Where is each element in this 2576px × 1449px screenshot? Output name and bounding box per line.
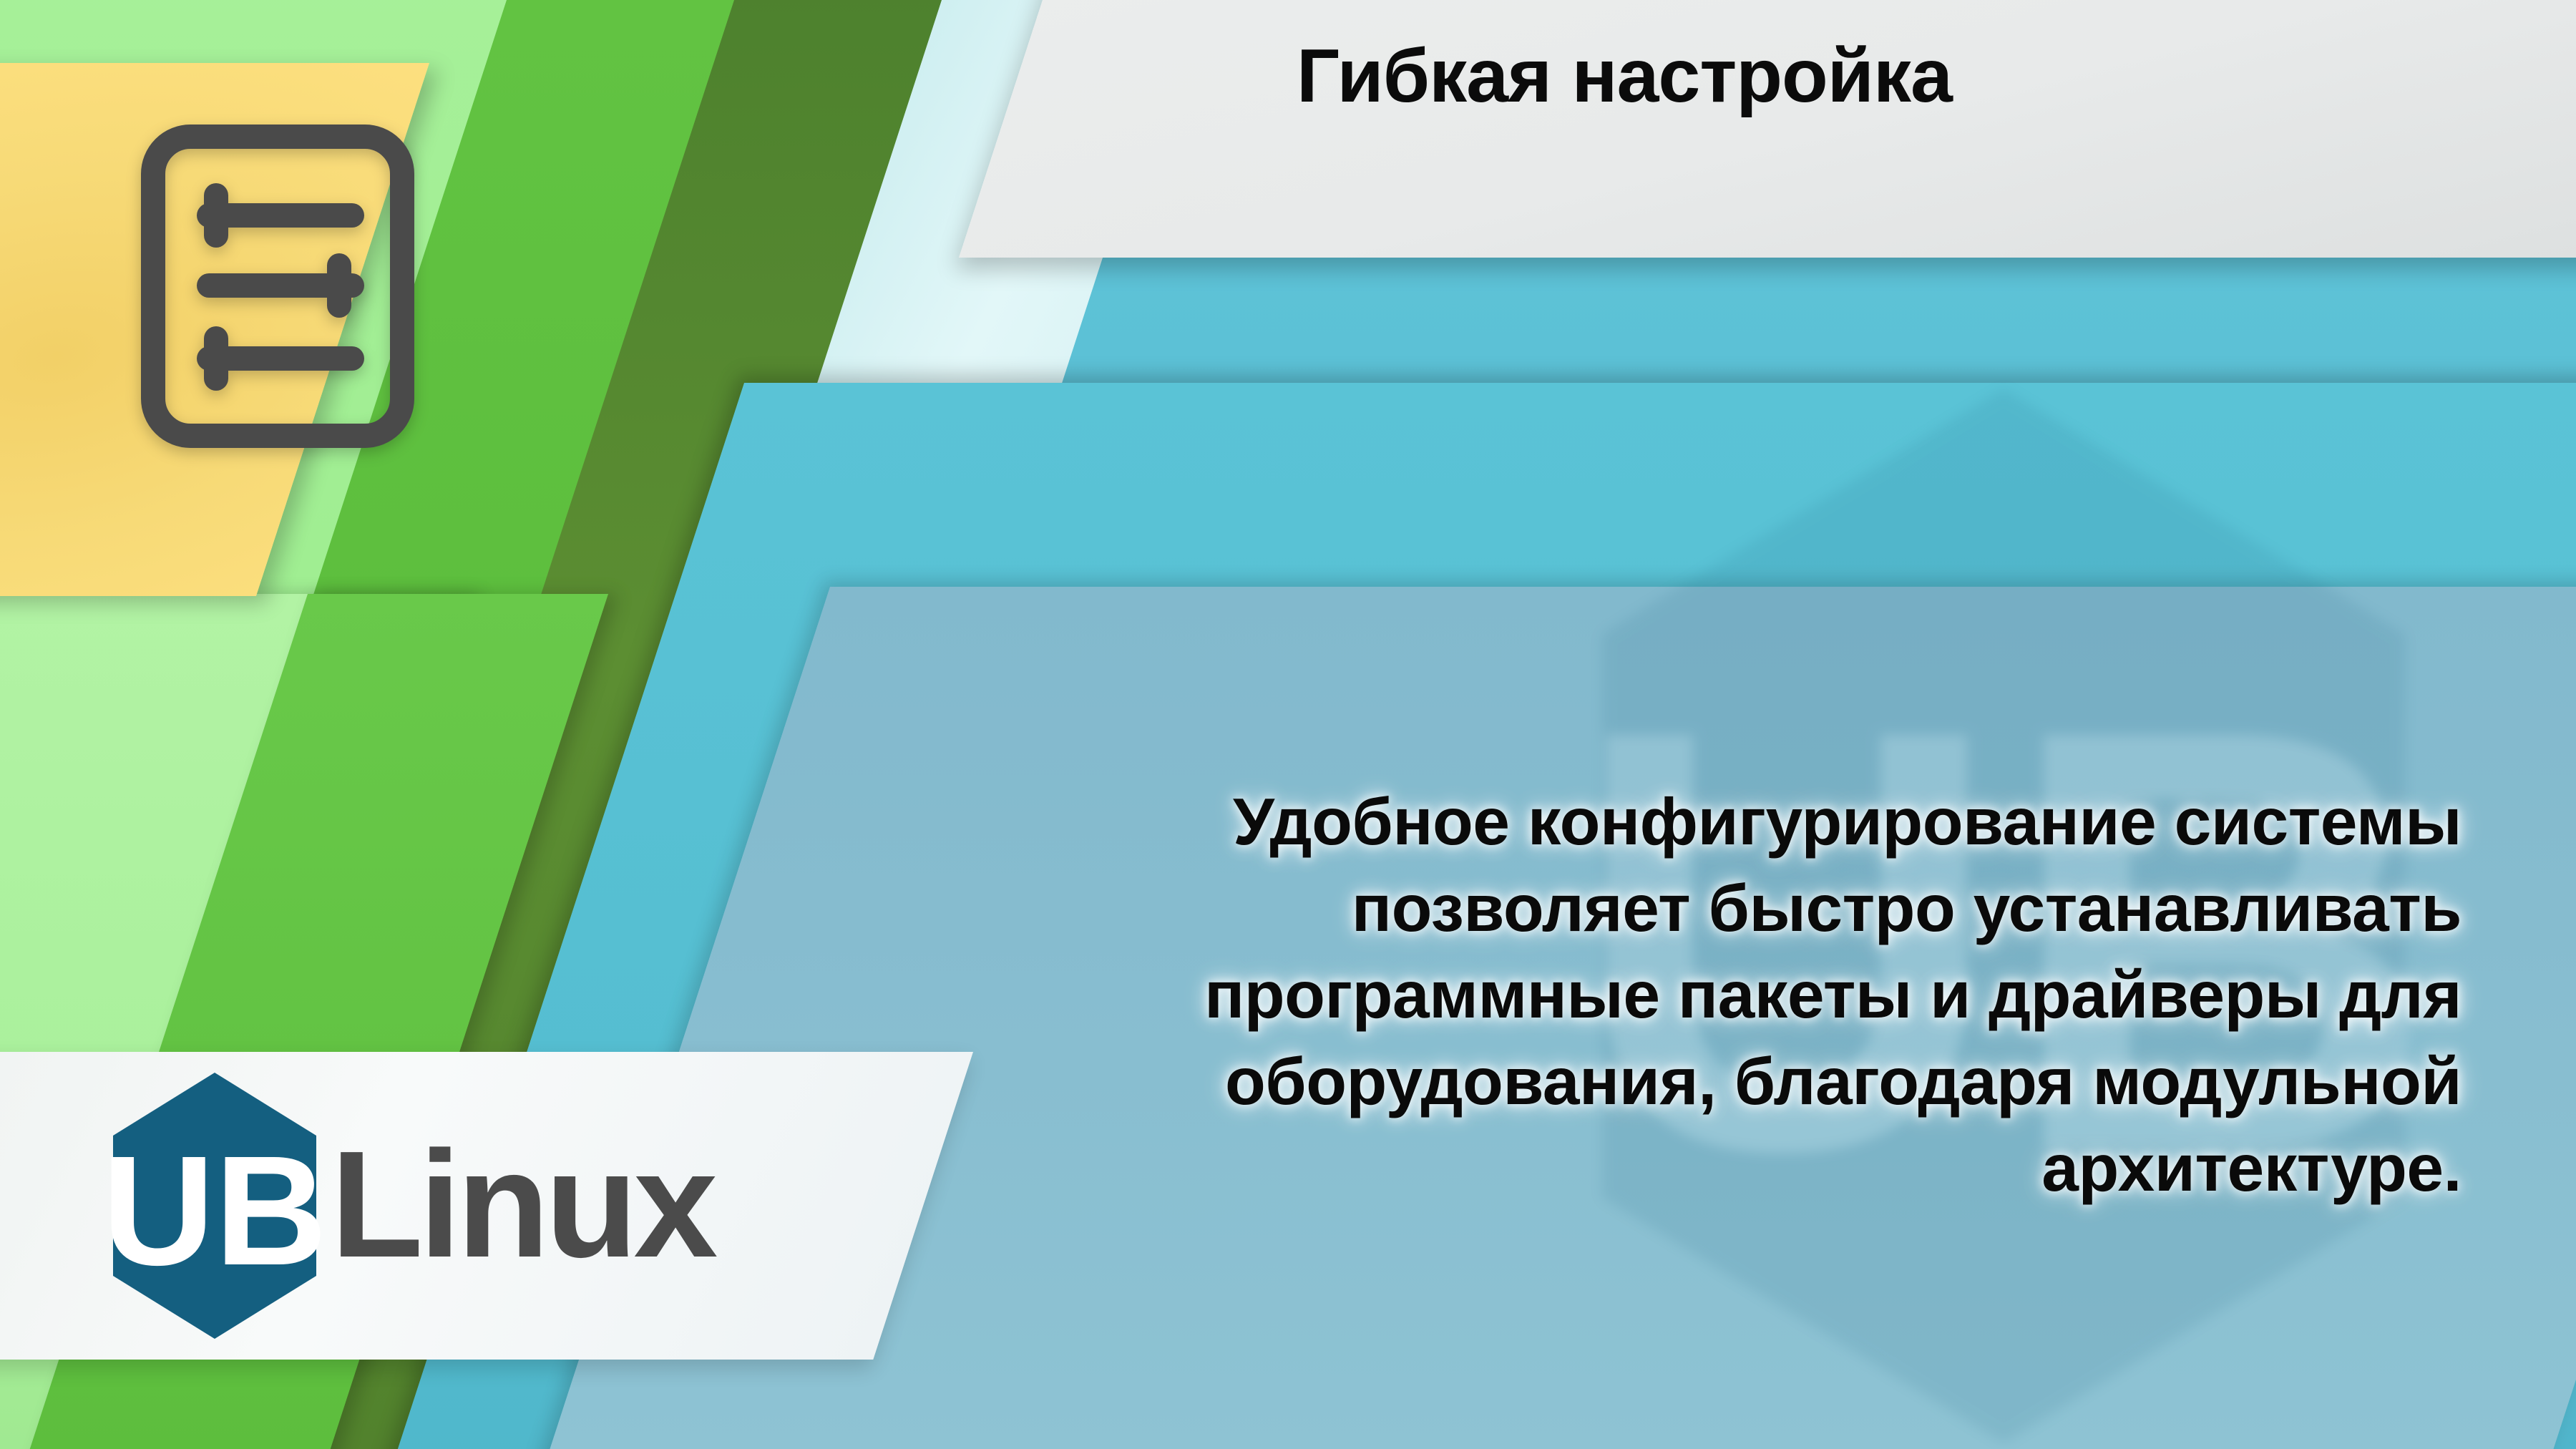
- slide-canvas: UB Гибкая настройка Удобное конфигуриров…: [0, 0, 2576, 1449]
- body-paragraph: Удобное конфигурирование системы позволя…: [1116, 779, 2462, 1211]
- page-title: Гибкая настройка: [1209, 33, 2039, 119]
- settings-sliders-icon: [135, 118, 421, 454]
- ub-hexagon-logo-icon: UB: [100, 1070, 329, 1342]
- svg-text:UB: UB: [102, 1124, 328, 1298]
- brand-logo: UB Linux: [100, 1070, 713, 1342]
- logo-wordmark: Linux: [331, 1128, 713, 1280]
